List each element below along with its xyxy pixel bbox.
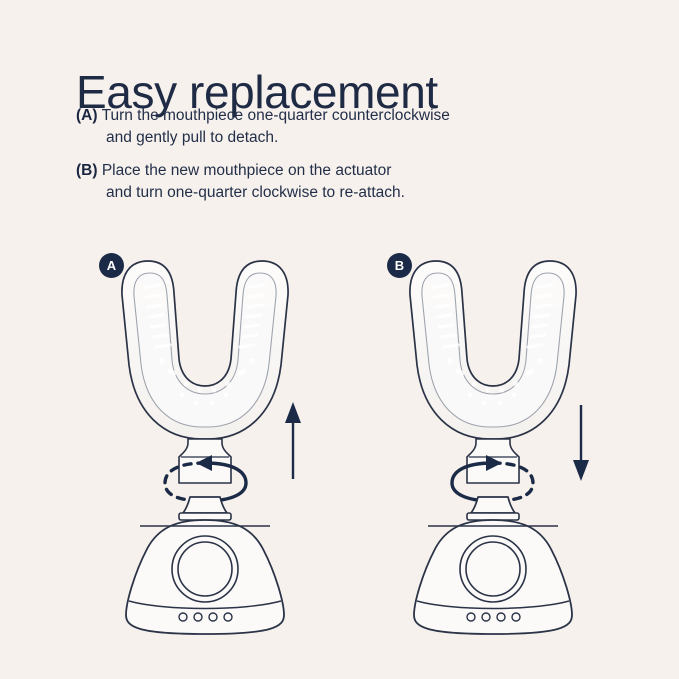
diagram-b: B [378, 243, 668, 643]
step-a-line-1: (A) Turn the mouthpiece one-quarter coun… [76, 105, 596, 127]
step-b-tag: (B) [76, 162, 98, 179]
step-b: (B) Place the new mouthpiece on the actu… [76, 160, 596, 203]
instruction-steps: (A) Turn the mouthpiece one-quarter coun… [76, 105, 596, 215]
motion-arrow-up [285, 402, 301, 479]
handle-base [126, 520, 284, 634]
step-a-tag: (A) [76, 107, 98, 124]
diagram-a-art [90, 243, 380, 643]
step-b-text-2: and turn one-quarter clockwise to re-att… [76, 182, 596, 204]
motion-arrow-down [573, 405, 589, 481]
step-b-line-1: (B) Place the new mouthpiece on the actu… [76, 160, 596, 182]
step-b-text-1: Place the new mouthpiece on the actuator [102, 162, 392, 179]
infographic-page: Easy replacement (A) Turn the mouthpiece… [0, 0, 679, 679]
step-a: (A) Turn the mouthpiece one-quarter coun… [76, 105, 596, 148]
step-a-text-1: Turn the mouthpiece one-quarter counterc… [102, 107, 450, 124]
diagram-a: A [90, 243, 380, 643]
handle-base [414, 520, 572, 634]
step-a-text-2: and gently pull to detach. [76, 127, 596, 149]
diagram-b-art [378, 243, 668, 643]
